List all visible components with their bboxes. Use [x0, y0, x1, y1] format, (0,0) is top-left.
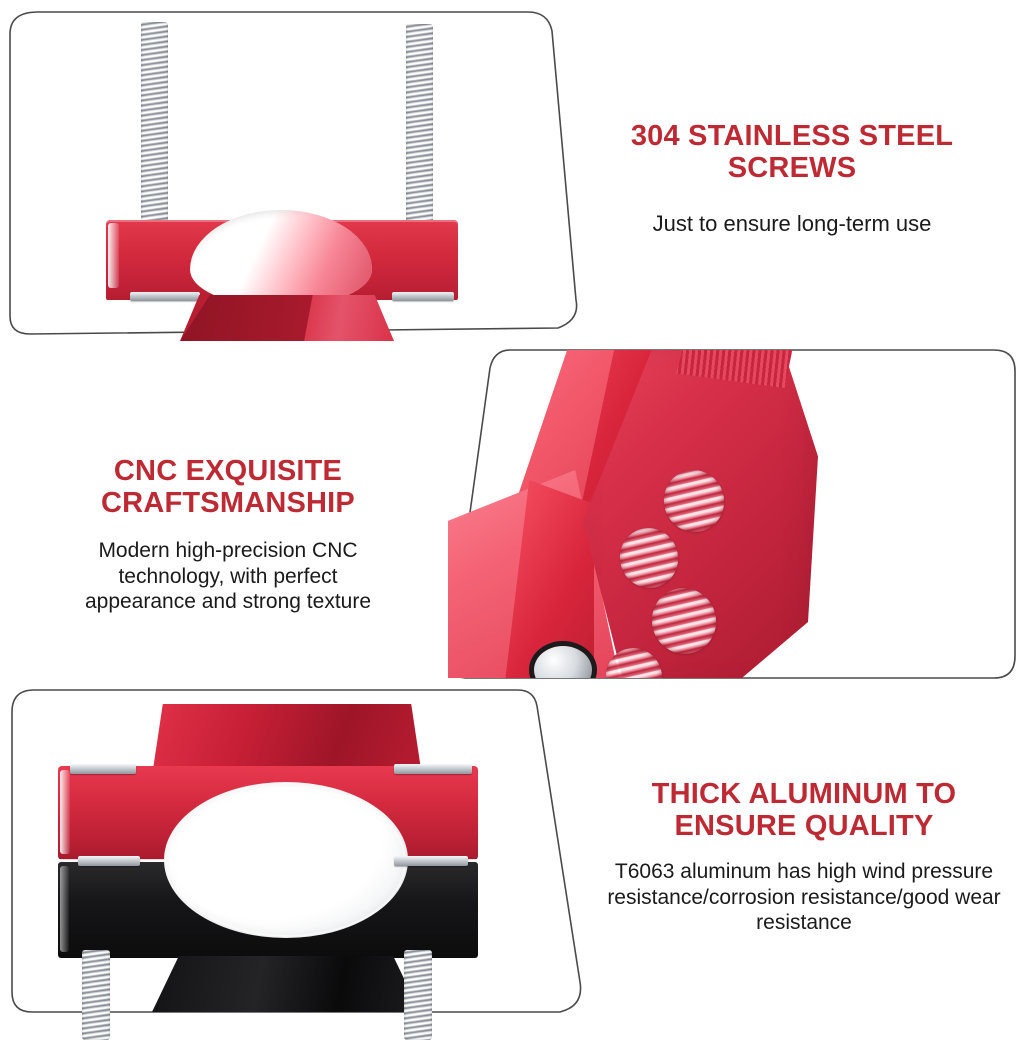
mount-screw-right-shaft — [404, 950, 432, 1040]
feature-text-aluminum: THICK ALUMINUM TO ENSURE QUALITY T6063 a… — [588, 778, 1020, 936]
feature-heading-cnc: CNC EXQUISITE CRAFTSMANSHIP — [0, 455, 456, 520]
screw-seat-upper-left — [70, 764, 136, 774]
mount-screw-right — [404, 950, 432, 1040]
feature-heading-screws: 304 STAINLESS STEEL SCREWS — [566, 120, 1018, 185]
screw-left — [141, 22, 168, 232]
feature-heading-aluminum: THICK ALUMINUM TO ENSURE QUALITY — [588, 778, 1020, 843]
infographic-canvas: 304 STAINLESS STEEL SCREWS Just to ensur… — [0, 0, 1024, 1024]
mount-screw-left-shaft — [82, 950, 110, 1040]
feature-image-cnc — [448, 350, 1016, 678]
clamp-bore-rim — [170, 787, 406, 937]
screw-left-shaft — [141, 22, 168, 232]
clamp-base-flange-black — [152, 956, 420, 1012]
screw-seat-upper-right — [394, 764, 472, 774]
clamp-top-highlight — [60, 770, 70, 854]
clamp-edge-highlight — [108, 223, 119, 288]
clamp-half-red — [106, 220, 458, 300]
screw-right — [406, 24, 433, 229]
feature-body-screws: Just to ensure long-term use — [566, 211, 1018, 238]
feature-body-aluminum: T6063 aluminum has high wind pressure re… — [588, 859, 1020, 936]
feature-image-screws — [10, 12, 576, 334]
screw-seat-lower-right — [394, 856, 468, 866]
feature-text-screws: 304 STAINLESS STEEL SCREWS Just to ensur… — [566, 120, 1018, 238]
feature-text-cnc: CNC EXQUISITE CRAFTSMANSHIP Modern high-… — [0, 455, 456, 615]
clamp-seat-left — [130, 292, 200, 301]
feature-image-aluminum — [12, 688, 578, 1024]
screw-seat-lower-left — [78, 856, 140, 866]
mount-screw-left — [82, 950, 110, 1040]
clamp-seat-right — [392, 292, 454, 301]
screw-right-shaft — [406, 24, 433, 229]
clamp-bottom-highlight — [60, 866, 69, 952]
feature-body-cnc: Modern high-precision CNC technology, wi… — [0, 538, 456, 615]
